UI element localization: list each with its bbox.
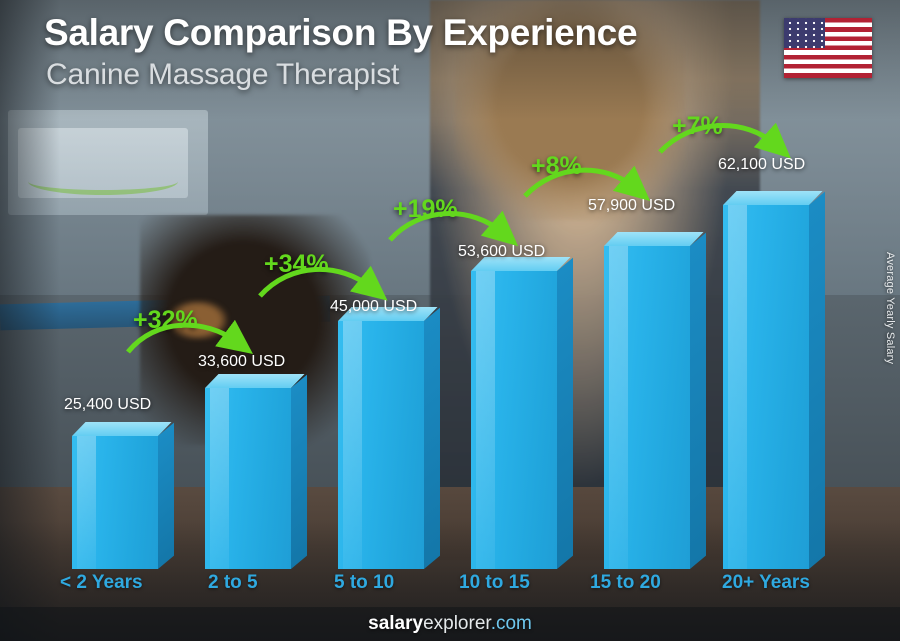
brand-normal: explorer <box>423 613 491 634</box>
bar-value-label: 33,600 USD <box>198 353 285 371</box>
change-label: +8% <box>531 152 582 181</box>
x-axis-category-label: 20+ Years <box>722 572 810 594</box>
x-axis-category-label: 2 to 5 <box>208 572 258 594</box>
salary-chart-infographic: Salary Comparison By Experience Canine M… <box>0 0 900 641</box>
bar-group <box>604 232 690 569</box>
x-axis-category-label: 5 to 10 <box>334 572 394 594</box>
bar-value-label: 62,100 USD <box>718 156 805 174</box>
change-label: +7% <box>672 112 723 141</box>
bar-group <box>723 191 809 569</box>
bar-group <box>471 257 557 569</box>
x-axis-category-label: 10 to 15 <box>459 572 530 594</box>
bar-chart: 25,400 USD 33,600 USD 45,000 USD 53,600 … <box>0 0 900 641</box>
bar-group <box>72 422 158 569</box>
bar-value-label: 25,400 USD <box>64 396 151 414</box>
change-label: +19% <box>393 195 458 224</box>
change-label: +34% <box>264 250 329 279</box>
brand-domain: .com <box>491 613 532 634</box>
brand-bold: salary <box>368 613 423 634</box>
x-axis-category-label: < 2 Years <box>60 572 143 594</box>
bar-group <box>205 374 291 569</box>
bar-value-label: 45,000 USD <box>330 298 417 316</box>
change-label: +32% <box>133 306 198 335</box>
site-branding: salaryexplorer.com <box>0 613 900 635</box>
bar-value-label: 53,600 USD <box>458 243 545 261</box>
x-axis-category-label: 15 to 20 <box>590 572 661 594</box>
bar-group <box>338 307 424 569</box>
bar-value-label: 57,900 USD <box>588 197 675 215</box>
